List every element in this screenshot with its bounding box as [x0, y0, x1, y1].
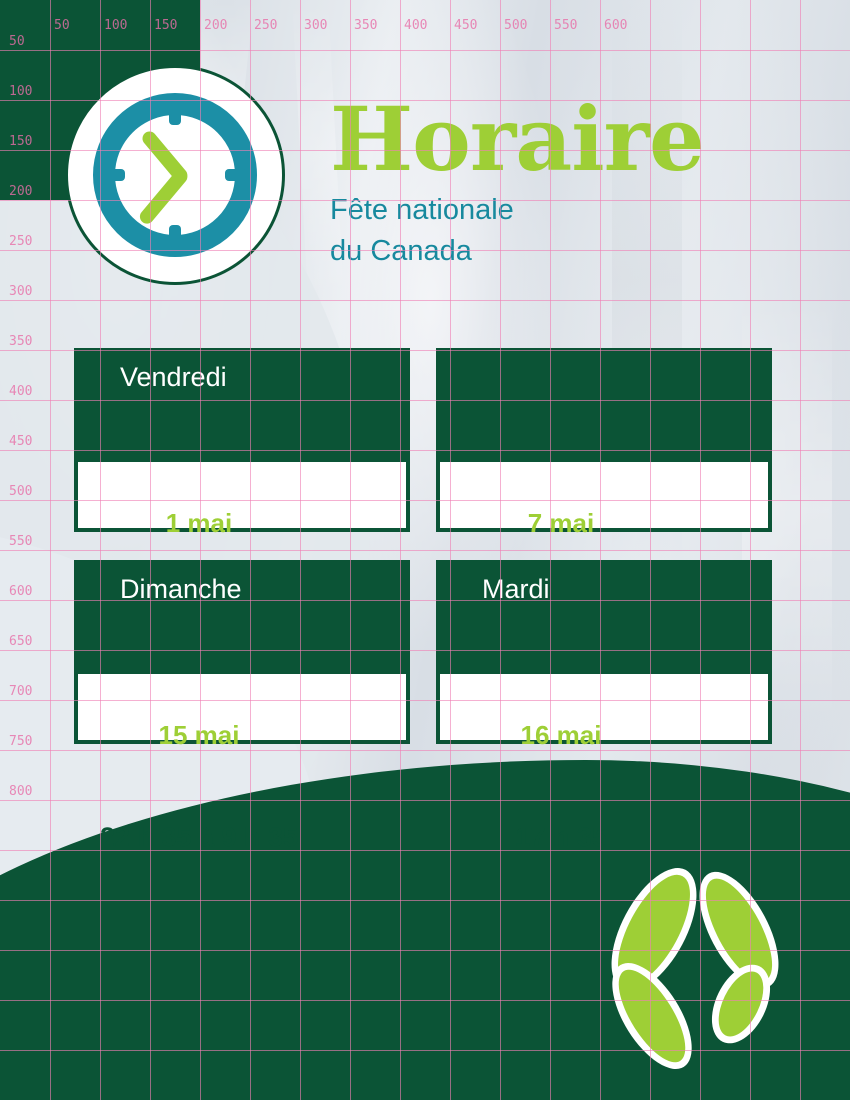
subtitle-line-1: Fête nationale: [330, 190, 514, 231]
card-date-label: 16 mai: [436, 720, 686, 751]
clock-tick-left: [103, 169, 125, 181]
card-header-band: [436, 348, 772, 458]
card-date-label: 15 mai: [74, 720, 324, 751]
card-day-label: Dimanche: [120, 574, 242, 605]
poster-canvas: Horaire Fête nationale du Canada Vendred…: [0, 0, 850, 1100]
clock-tick-top: [169, 103, 181, 125]
card-date-label: 7 mai: [436, 508, 686, 539]
card-date-label: 1 mai: [74, 508, 324, 539]
subtitle-line-2: du Canada: [330, 231, 514, 272]
schedule-card[interactable]: Mardi 16 mai: [436, 560, 772, 670]
clock-icon: [65, 65, 285, 285]
butterfly-icon: [618, 862, 803, 1047]
page-subtitle: Fête nationale du Canada: [330, 190, 514, 271]
clock-tick-right: [225, 169, 247, 181]
schedule-card[interactable]: Vendredi 1 mai: [74, 348, 410, 458]
hours-label: 22 h 35 à 9 h 35: [74, 822, 324, 853]
card-day-label: Vendredi: [120, 362, 227, 393]
clock-tick-bottom: [169, 225, 181, 247]
card-day-label: Mardi: [482, 574, 550, 605]
bottom-green-band: [0, 1076, 850, 1100]
schedule-card[interactable]: 7 mai: [436, 348, 772, 458]
schedule-card[interactable]: Dimanche 15 mai: [74, 560, 410, 670]
page-title: Horaire: [330, 95, 704, 183]
hours-label: 17 h 35: [436, 822, 686, 853]
